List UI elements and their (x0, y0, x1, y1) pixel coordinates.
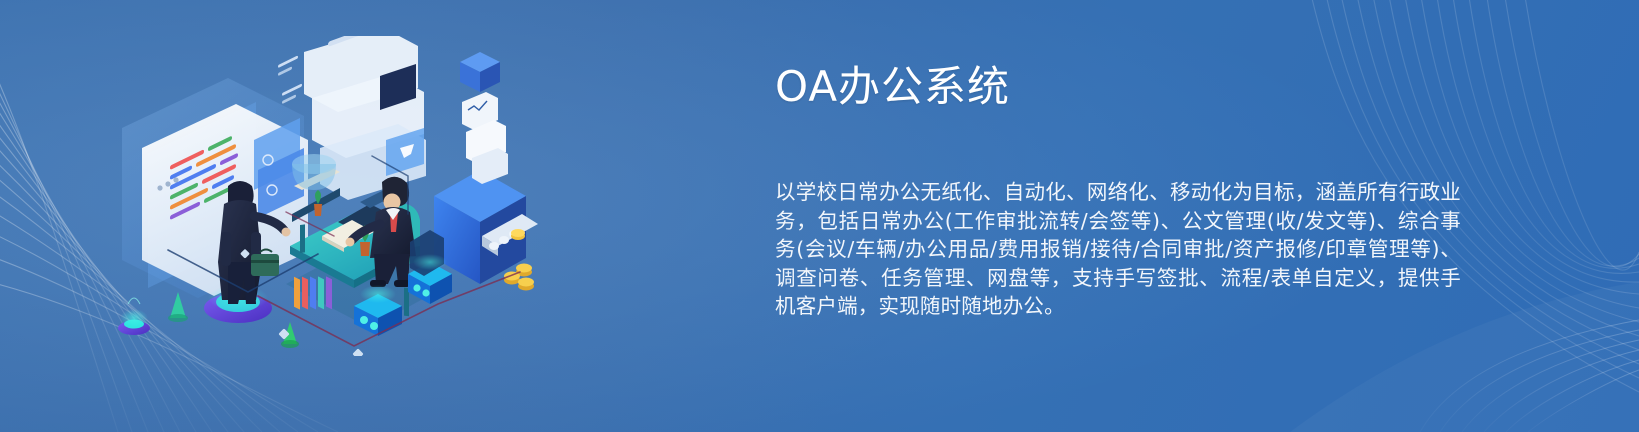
crystal-cone-a (168, 292, 188, 322)
printer-machine (434, 36, 538, 356)
glow-node-a (354, 285, 402, 336)
oa-system-banner: OA办公系统 以学校日常办公无纸化、自动化、网络化、移动化为目标，涵盖所有行政业… (0, 0, 1639, 432)
office-illustration (108, 36, 538, 356)
ui-card-stack (254, 55, 304, 218)
banner-content: OA办公系统 以学校日常办公无纸化、自动化、网络化、移动化为目标，涵盖所有行政业… (775, 62, 1465, 321)
hologram-pod (118, 298, 150, 335)
page-title: OA办公系统 (775, 62, 1465, 112)
banner-description: 以学校日常办公无纸化、自动化、网络化、移动化为目标，涵盖所有行政业务，包括日常办… (775, 178, 1461, 321)
